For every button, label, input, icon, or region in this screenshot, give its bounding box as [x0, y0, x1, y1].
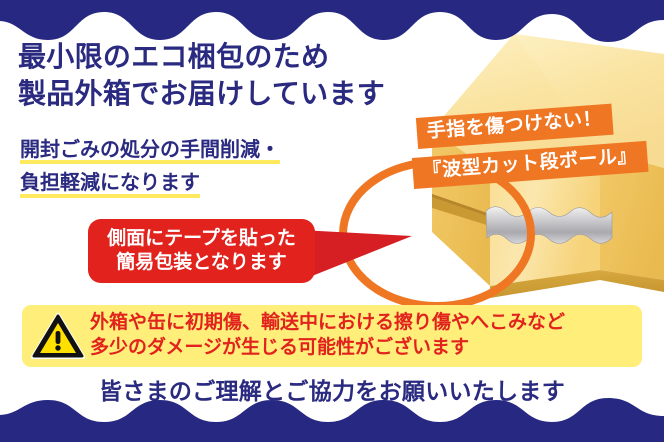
subtext-line-1: 開封ごみの処分の手間削減・: [20, 138, 280, 164]
warning-triangle-icon: [30, 311, 86, 361]
warning-text: 外箱や缶に初期傷、輸送中における擦り傷やへこみなど 多少のダメージが生じる可能性…: [90, 311, 565, 360]
closing-message: 皆さまのご理解とご協力をお願いいたします: [0, 372, 664, 406]
subtext-line-2: 負担軽減になります: [20, 171, 200, 197]
subtext: 開封ごみの処分の手間削減・ 負担軽減になります: [20, 138, 350, 205]
side-tape-callout: 側面にテープを貼った 簡易包装となります: [88, 219, 315, 283]
callout-line-2: 簡易包装となります: [116, 251, 286, 275]
eco-packaging-banner: 最小限のエコ梱包のため 製品外箱でお届けしています 開封ごみの処分の手間削減・ …: [0, 0, 664, 442]
headline-line-2: 製品外箱でお届けしています: [18, 75, 438, 112]
subtext-row-1: 開封ごみの処分の手間削減・: [20, 138, 350, 171]
subtext-row-2: 負担軽減になります: [20, 171, 350, 204]
callout-line-1: 側面にテープを貼った: [107, 227, 296, 251]
damage-warning-panel: 外箱や缶に初期傷、輸送中における擦り傷やへこみなど 多少のダメージが生じる可能性…: [22, 305, 642, 367]
headline-line-1: 最小限のエコ梱包のため: [18, 38, 438, 75]
warning-line-1: 外箱や缶に初期傷、輸送中における擦り傷やへこみなど: [90, 311, 565, 336]
headline: 最小限のエコ梱包のため 製品外箱でお届けしています: [18, 38, 438, 112]
red-arrow-icon: [300, 218, 420, 290]
warning-line-2: 多少のダメージが生じる可能性がございます: [90, 336, 565, 361]
